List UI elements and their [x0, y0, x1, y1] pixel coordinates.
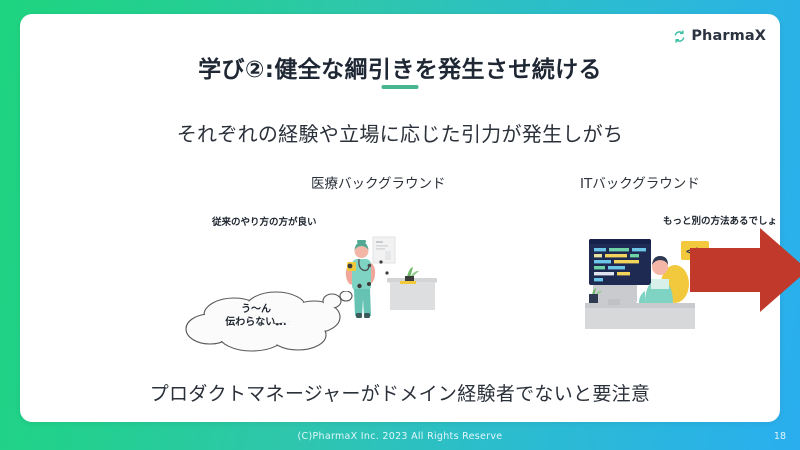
column-heading-it: ITバックグラウンド [580, 172, 700, 192]
slide-canvas: PharmaX 学び②:健全な綱引きを発生させ続ける それぞれの経験や立場に応じ… [0, 0, 800, 450]
bottom-message-text: プロダクトマネージャーがドメイン経験者でないと要注意 [20, 379, 780, 406]
illustration-medical-group: う〜ん 伝わらない... [170, 229, 440, 349]
footer-page-number: 18 [774, 431, 786, 442]
arrow-right-icon [690, 222, 800, 318]
title-underline-rule [382, 85, 419, 89]
logo-wordmark: PharmaX [691, 28, 766, 44]
thought-bubble-line-1: う〜ん [196, 303, 316, 316]
thought-bubble-line-2: 伝わらない... [196, 316, 316, 329]
subtitle-text: それぞれの経験や立場に応じた引力が発生しがち [20, 118, 780, 147]
column-heading-medical: 医療バックグラウンド [311, 172, 445, 192]
thought-bubble-text: う〜ん 伝わらない... [196, 303, 316, 329]
doctor-illustration [330, 229, 440, 329]
slide-card: PharmaX 学び②:健全な綱引きを発生させ続ける それぞれの経験や立場に応じ… [20, 14, 780, 422]
page-title: 学び②:健全な綱引きを発生させ続ける [20, 50, 780, 84]
footer-copyright: (C)PharmaX Inc. 2023 All Rights Reserve [0, 431, 800, 442]
quote-label-medical: 従来のやり方の方が良い [212, 214, 317, 228]
circular-arrows-icon [672, 29, 687, 44]
pharmax-logo: PharmaX [672, 28, 766, 44]
